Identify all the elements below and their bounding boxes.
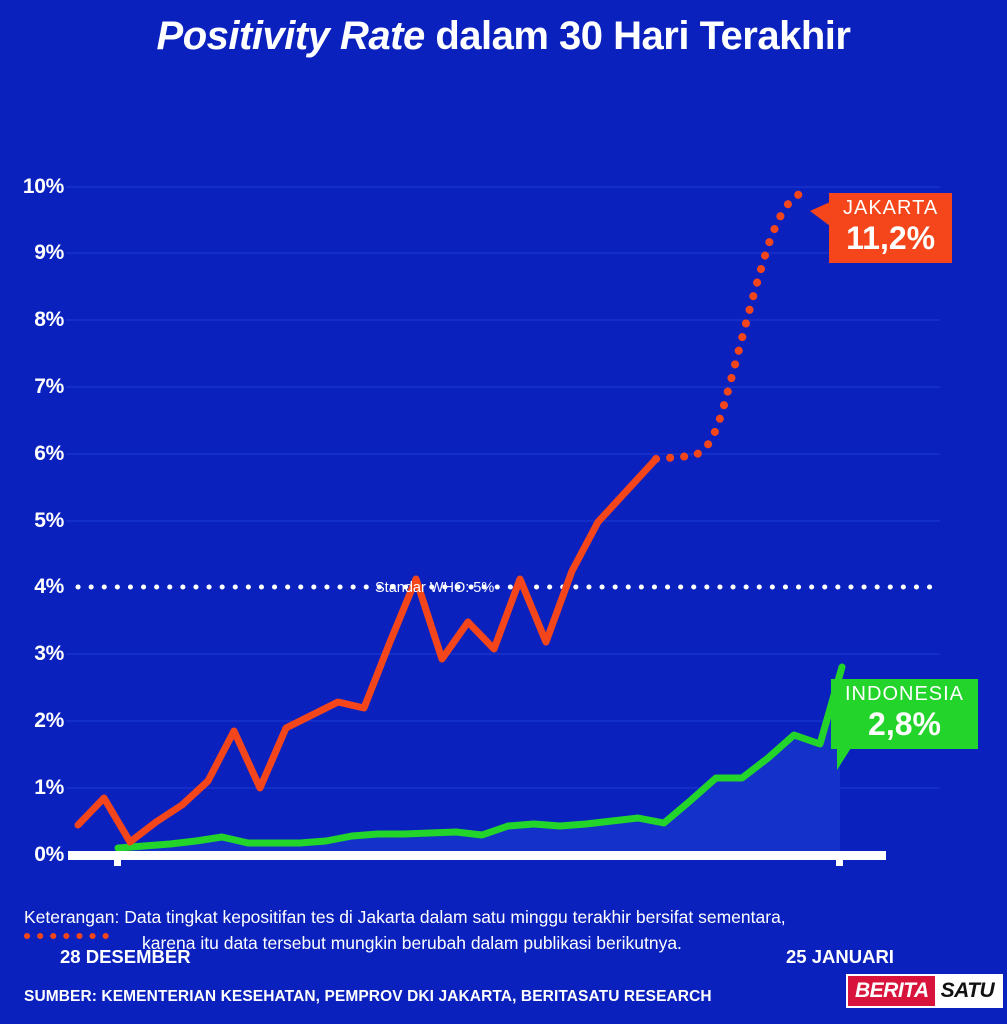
callout-indonesia-value: 2,8%: [845, 708, 964, 740]
y-tick-0: 0%: [8, 843, 64, 867]
beritasatu-logo: BERITA SATU: [846, 974, 1003, 1008]
y-tick-3: 3%: [8, 642, 64, 666]
footnote-line-1: Keterangan: Data tingkat kepositifan tes…: [24, 907, 786, 927]
series-jakarta-line-solid: [78, 459, 656, 842]
series-jakarta-line-dotted: [656, 192, 805, 459]
logo-satu: SATU: [935, 976, 1002, 1006]
indonesia-area-fill: [118, 667, 840, 855]
callout-jakarta-value: 11,2%: [843, 222, 938, 254]
title-emphasis: Positivity Rate: [157, 14, 425, 58]
page-title: Positivity Rate dalam 30 Hari Terakhir: [0, 14, 1007, 59]
title-rest: dalam 30 Hari Terakhir: [425, 14, 851, 58]
x-axis: [68, 851, 886, 866]
y-tick-2: 2%: [8, 709, 64, 733]
gridlines: [66, 187, 940, 788]
source-text: SUMBER: KEMENTERIAN KESEHATAN, PEMPROV D…: [24, 988, 712, 1006]
y-tick-9: 9%: [8, 241, 64, 265]
who-standard-label: Standar WHO: 5%: [375, 580, 494, 596]
callout-indonesia: INDONESIA 2,8%: [831, 679, 978, 749]
callout-jakarta-pointer: [810, 202, 830, 226]
y-tick-8: 8%: [8, 308, 64, 332]
chart-plot-area: 0% 1% 2% 3% 4% 5% 6% 7% 8% 9% 10% Standa…: [0, 86, 1007, 866]
callout-indonesia-name: INDONESIA: [845, 684, 964, 704]
y-tick-10: 10%: [8, 175, 64, 199]
footnote-line-2: karena itu data tersebut mungkin berubah…: [24, 930, 984, 956]
infographic-root: Positivity Rate dalam 30 Hari Terakhir: [0, 0, 1007, 1024]
callout-indonesia-pointer: [837, 748, 867, 770]
y-tick-7: 7%: [8, 375, 64, 399]
y-tick-6: 6%: [8, 442, 64, 466]
y-tick-5: 5%: [8, 509, 64, 533]
y-tick-1: 1%: [8, 776, 64, 800]
dotted-legend-icon: [24, 933, 120, 939]
y-tick-4: 4%: [8, 575, 64, 599]
callout-jakarta: JAKARTA 11,2%: [829, 193, 952, 263]
footer: Keterangan: Data tingkat kepositifan tes…: [0, 866, 1007, 1024]
logo-berita: BERITA: [848, 976, 935, 1006]
callout-jakarta-name: JAKARTA: [843, 198, 938, 218]
footnote: Keterangan: Data tingkat kepositifan tes…: [24, 904, 984, 957]
